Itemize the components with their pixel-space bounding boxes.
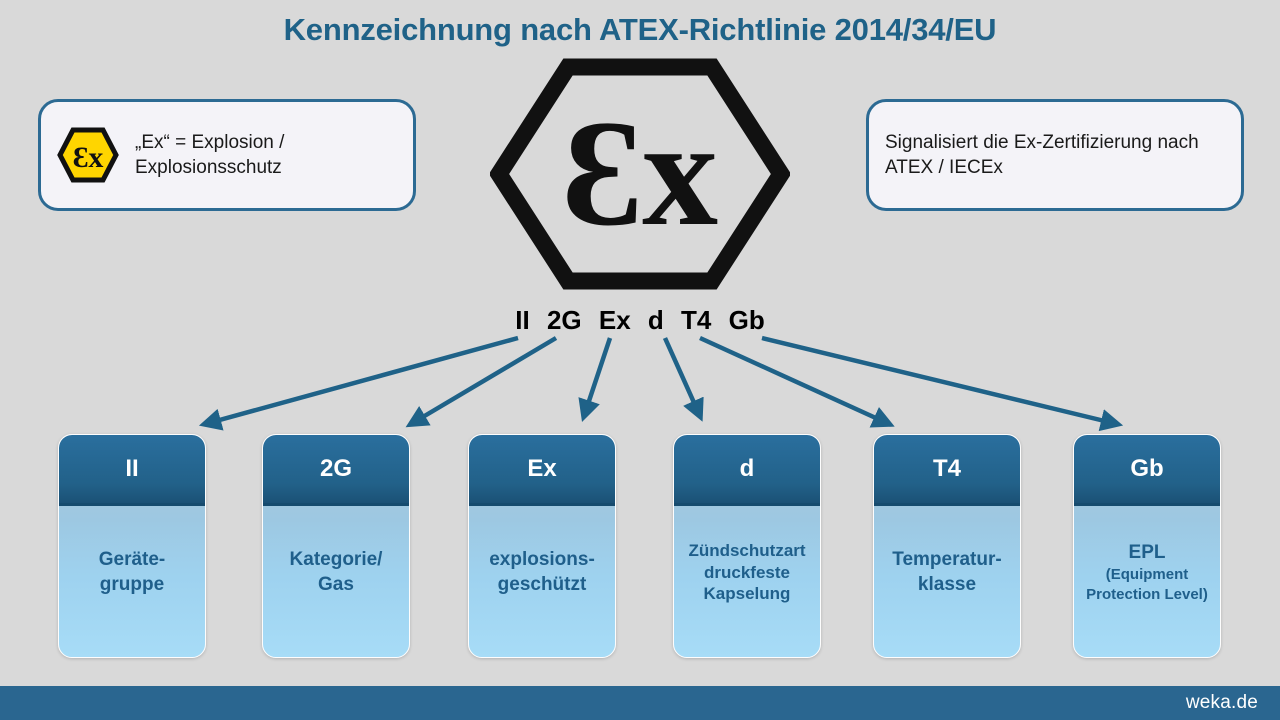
card-code: Gb	[1074, 435, 1220, 506]
weka-logo: weka.de	[1186, 692, 1258, 714]
arrow-to-card-5	[762, 338, 1117, 424]
card-description: EPL (Equipment Protection Level)	[1074, 506, 1220, 657]
card-description: Geräte-gruppe	[59, 506, 205, 657]
arrow-to-card-3	[665, 338, 700, 416]
card-description: Kategorie/Gas	[263, 506, 409, 657]
code-part-3: d	[648, 305, 664, 335]
card-ii[interactable]: II Geräte-gruppe	[58, 434, 206, 658]
code-part-5: Gb	[729, 305, 765, 335]
card-d[interactable]: d ZündschutzartdruckfesteKapselung	[673, 434, 821, 658]
card-code: II	[59, 435, 205, 506]
footer-bar: weka.de	[0, 686, 1280, 720]
arrow-to-card-0	[205, 338, 518, 424]
atex-hexagon-icon: Ɛx	[57, 127, 119, 183]
atex-ex-hexagon-symbol: Ɛx	[490, 58, 790, 290]
ex-glyph: Ɛx	[562, 89, 718, 257]
diagram-canvas: Kennzeichnung nach ATEX-Richtlinie 2014/…	[0, 0, 1280, 720]
card-code: 2G	[263, 435, 409, 506]
card-ex[interactable]: Ex explosions-geschützt	[468, 434, 616, 658]
card-t4[interactable]: T4 Temperatur-klasse	[873, 434, 1021, 658]
code-part-4: T4	[681, 305, 711, 335]
card-gb[interactable]: Gb EPL (Equipment Protection Level)	[1073, 434, 1221, 658]
card-code: d	[674, 435, 820, 506]
arrow-to-card-4	[700, 338, 889, 424]
card-description: Temperatur-klasse	[874, 506, 1020, 657]
card-code: T4	[874, 435, 1020, 506]
marking-code-line: II 2G Ex d T4 Gb	[0, 305, 1280, 336]
callout-left-text: „Ex“ = Explosion / Explosionsschutz	[135, 130, 397, 180]
callout-right: Signalisiert die Ex-Zertifizierung nach …	[866, 99, 1244, 211]
callout-left: Ɛx „Ex“ = Explosion / Explosionsschutz	[38, 99, 416, 211]
arrow-to-card-1	[411, 338, 556, 424]
code-part-0: II	[515, 305, 529, 335]
code-part-1: 2G	[547, 305, 582, 335]
callout-right-text: Signalisiert die Ex-Zertifizierung nach …	[885, 130, 1225, 180]
code-part-2: Ex	[599, 305, 631, 335]
arrow-to-card-2	[584, 338, 610, 416]
card-code: Ex	[469, 435, 615, 506]
page-title: Kennzeichnung nach ATEX-Richtlinie 2014/…	[0, 12, 1280, 48]
card-2g[interactable]: 2G Kategorie/Gas	[262, 434, 410, 658]
svg-text:Ɛx: Ɛx	[73, 141, 104, 174]
card-epl-label: EPL	[1129, 542, 1166, 563]
card-description: explosions-geschützt	[469, 506, 615, 657]
card-description: ZündschutzartdruckfesteKapselung	[674, 506, 820, 657]
card-epl-sub: (Equipment Protection Level)	[1080, 565, 1214, 603]
